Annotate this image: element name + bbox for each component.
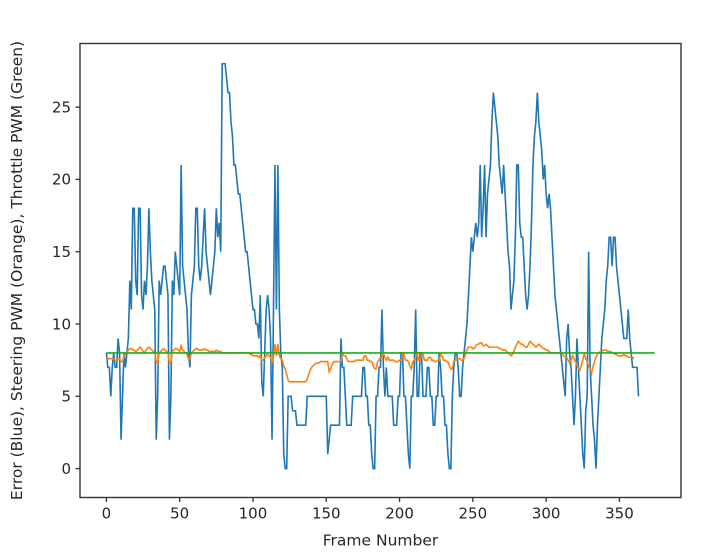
y-tick-label: 5 [61, 388, 71, 406]
x-tick-label: 350 [605, 505, 634, 523]
x-tick-label: 200 [385, 505, 414, 523]
y-axis-label: Error (Blue), Steering PWM (Orange), Thr… [8, 41, 26, 500]
x-tick-label: 300 [532, 505, 561, 523]
matplotlib-figure: 050100150200250300350 0510152025 Frame N… [0, 0, 708, 555]
y-tick-label: 25 [52, 98, 71, 116]
y-tick-label: 0 [61, 460, 71, 478]
y-tick-label: 10 [52, 315, 71, 333]
x-tick-label: 100 [239, 505, 268, 523]
y-tick-label: 15 [52, 243, 71, 261]
x-tick-label: 250 [459, 505, 488, 523]
y-tick-label: 20 [52, 171, 71, 189]
x-axis-label: Frame Number [323, 532, 439, 550]
chart-canvas: 050100150200250300350 0510152025 Frame N… [0, 0, 708, 555]
x-tick-label: 0 [102, 505, 112, 523]
x-tick-label: 150 [312, 505, 341, 523]
x-tick-label: 50 [170, 505, 189, 523]
